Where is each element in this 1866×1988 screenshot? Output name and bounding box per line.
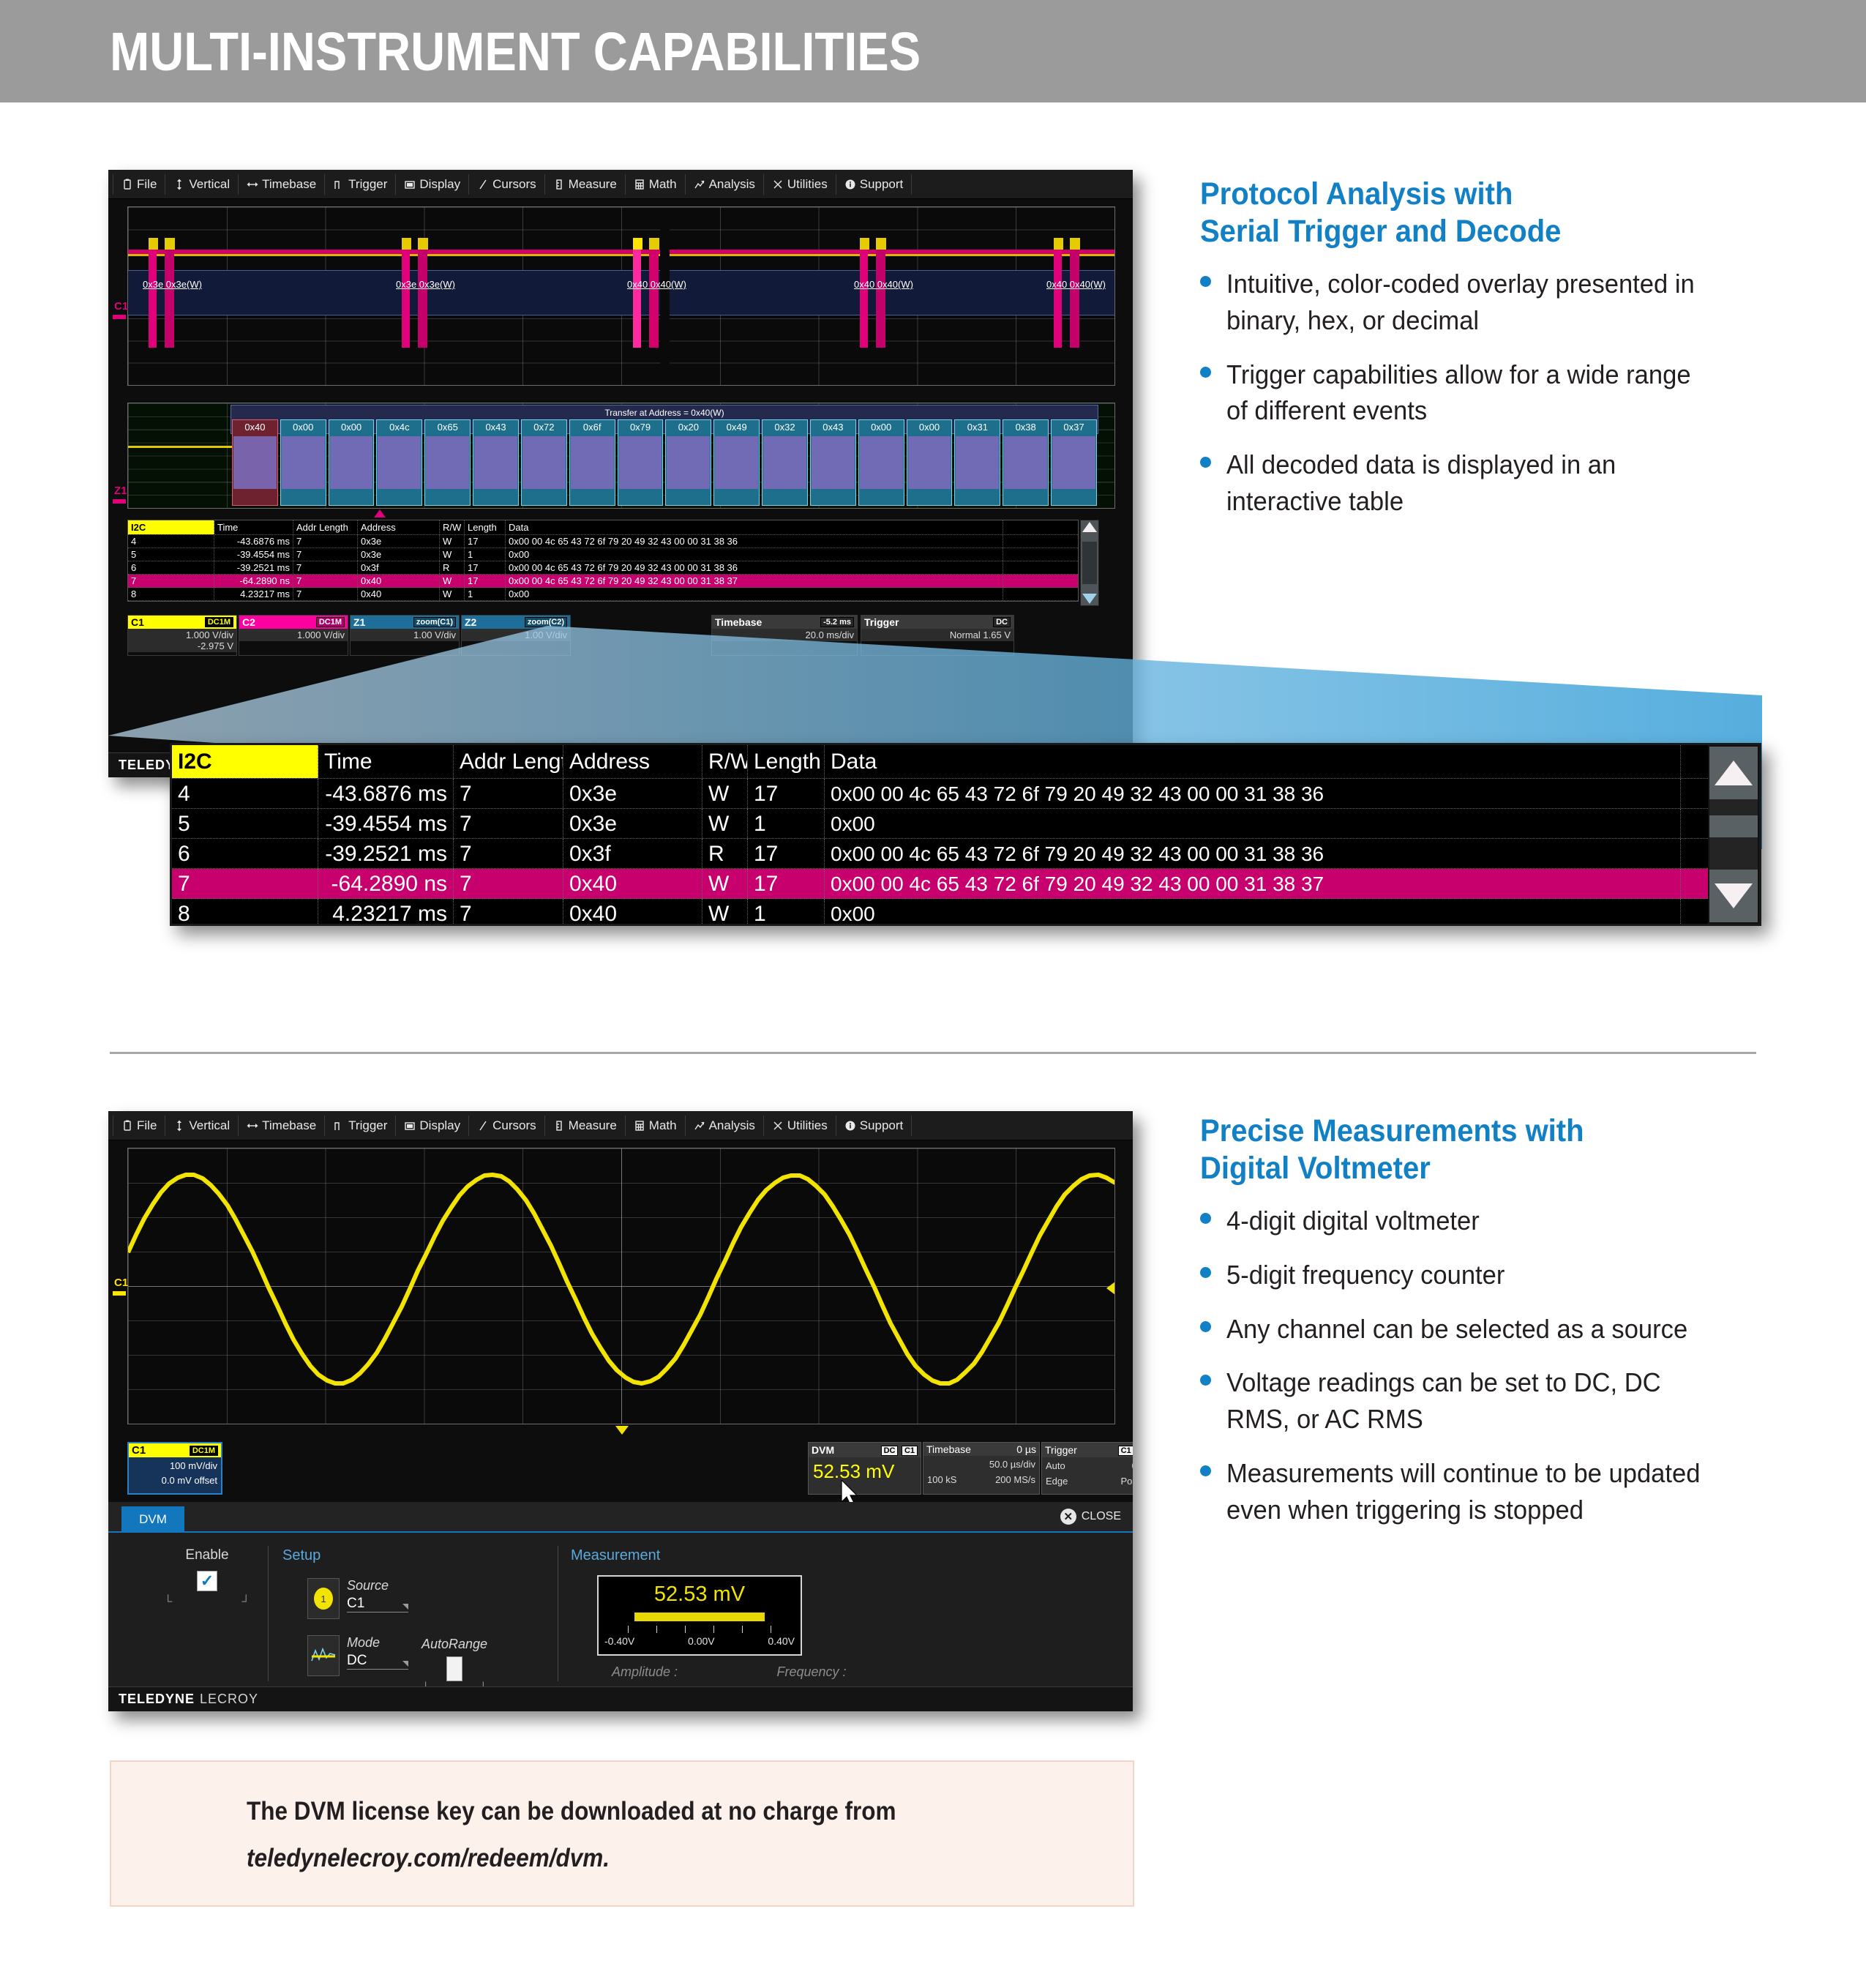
- menu-item-label: Timebase: [262, 1118, 316, 1133]
- menu-item-label: Cursors: [492, 177, 536, 192]
- decode-byte-body: [522, 436, 566, 489]
- trigger-source-badge: C1: [1118, 1446, 1133, 1456]
- menu-item-label: Utilities: [787, 177, 828, 192]
- menu-item-label: Utilities: [787, 1118, 828, 1133]
- menu-item-measure[interactable]: Measure: [545, 174, 626, 195]
- dvm-scale-max: 0.40V: [768, 1635, 795, 1647]
- decode-byte-body: [908, 436, 951, 489]
- descriptor-badge: DC: [993, 617, 1011, 627]
- bullet-text: Trigger capabilities allow for a wide ra…: [1226, 356, 1707, 429]
- section-divider: [110, 1052, 1756, 1054]
- descriptor-trigger[interactable]: TriggerDCNormal 1.65 V: [861, 615, 1014, 656]
- bullet-text: Measurements will continue to be updated…: [1226, 1455, 1721, 1528]
- info-icon: [844, 1120, 856, 1132]
- c1-offset: 0.0 mV offset: [132, 1473, 217, 1488]
- decode-band: [128, 270, 1114, 315]
- scroll-up-button[interactable]: [1709, 747, 1758, 799]
- file-icon: [121, 179, 133, 190]
- menu-item-label: Trigger: [348, 177, 387, 192]
- decode-overlay-label: 0x3e 0x3e(W): [396, 279, 455, 290]
- display-icon: [404, 1120, 416, 1132]
- enlarged-table-cell: -39.4554 ms: [318, 809, 454, 838]
- enlarged-table-header-cell: I2C: [172, 745, 318, 778]
- i2c-burst-group: [660, 214, 670, 386]
- bullet-item: Measurements will continue to be updated…: [1200, 1455, 1742, 1528]
- decode-byte-label: 0x40: [244, 422, 265, 433]
- trigger-name: Trigger: [1045, 1444, 1077, 1456]
- source-value: C1: [347, 1596, 364, 1612]
- menu-item-timebase[interactable]: Timebase: [239, 1116, 325, 1136]
- menu-item-math[interactable]: Math: [626, 1116, 686, 1136]
- enlarged-table-header-cell: R/W: [702, 745, 748, 778]
- amplitude-label: Amplitude :: [597, 1664, 692, 1680]
- logo-lecroy: LECROY: [200, 1692, 258, 1707]
- scroll-down-icon[interactable]: [1082, 594, 1097, 604]
- zoom-decode-byte-row: 0x400x000x000x4c0x650x430x720x6f0x790x20…: [232, 419, 1097, 506]
- menu-item-vertical[interactable]: Vertical: [165, 174, 239, 195]
- enlarged-table-header-cell: Length: [748, 745, 825, 778]
- decode-byte-label: 0x32: [774, 422, 795, 433]
- descriptor-line1: 20.0 ms/div: [715, 629, 854, 640]
- descriptor-timebase[interactable]: Timebase-5.2 ms20.0 ms/div: [711, 615, 858, 656]
- menu-item-file[interactable]: File: [113, 174, 165, 195]
- mode-control[interactable]: Mode DC: [307, 1635, 408, 1676]
- bullet-dot-icon: [1200, 367, 1211, 378]
- scope-window-protocol: FileVerticalTimebaseTriggerDisplayCursor…: [108, 170, 1133, 777]
- c1-spike: [1054, 238, 1063, 250]
- decode-byte-cell[interactable]: 0x00: [280, 419, 326, 506]
- decode-results-table[interactable]: I2CTimeAddr LengthAddressR/WLengthData4-…: [127, 520, 1079, 602]
- descriptor-c2[interactable]: C2DC1M1.000 V/div: [239, 615, 348, 656]
- table-cell: 4: [128, 535, 214, 548]
- bullet-text: All decoded data is displayed in an inte…: [1226, 446, 1707, 519]
- c1-spike: [149, 238, 158, 250]
- menu-item-cursors[interactable]: Cursors: [469, 174, 545, 195]
- math-icon: [634, 1120, 645, 1132]
- menu-item-cursors[interactable]: Cursors: [469, 1116, 545, 1136]
- enlarged-table-cell: -64.2890 ns: [318, 869, 454, 898]
- trigger-slope-icon: [333, 1120, 345, 1132]
- decode-byte-cell[interactable]: 0x72: [521, 419, 567, 506]
- decode-byte-cell[interactable]: 0x31: [954, 419, 1000, 506]
- c1-spike: [165, 238, 175, 250]
- descriptor-z1[interactable]: Z1zoom(C1)1.00 V/div: [350, 615, 460, 656]
- bullet-text: Voltage readings can be set to DC, DC RM…: [1226, 1364, 1721, 1437]
- menu-item-support[interactable]: Support: [836, 1116, 913, 1136]
- decode-byte-cell[interactable]: 0x00: [907, 419, 953, 506]
- scope-descriptor-bar[interactable]: C1DC1M1.000 V/div-2.975 VC2DC1M1.000 V/d…: [127, 615, 1115, 656]
- dvm-text-column: Precise Measurements with Digital Voltme…: [1200, 1113, 1742, 1545]
- c1-baseline-trace: [128, 254, 1114, 256]
- decode-byte-cell[interactable]: 0x49: [713, 419, 760, 506]
- scroll-track[interactable]: [1709, 837, 1758, 870]
- table-cell: 17: [465, 535, 506, 548]
- bullet-dot-icon: [1200, 1375, 1211, 1386]
- bullet-item: All decoded data is displayed in an inte…: [1200, 446, 1727, 519]
- scroll-up-icon[interactable]: [1082, 522, 1097, 532]
- enlarged-table-row[interactable]: 6-39.2521 ms70x3fR170x00 00 4c 65 43 72 …: [172, 839, 1708, 869]
- page-header-band: MULTI-INSTRUMENT CAPABILITIES: [0, 0, 1866, 102]
- descriptor-name: C2: [242, 616, 255, 628]
- table-row[interactable]: 5-39.4554 ms70x3eW10x00: [128, 548, 1078, 561]
- menu-item-trigger[interactable]: Trigger: [325, 174, 396, 195]
- decode-byte-label: 0x20: [678, 422, 699, 433]
- chevron-down-icon[interactable]: [402, 1604, 408, 1610]
- scroll-thumb[interactable]: [1082, 542, 1097, 584]
- enlarged-table-cell: 7: [172, 869, 318, 898]
- menu-item-analysis[interactable]: Analysis: [686, 1116, 764, 1136]
- c1-spike: [876, 238, 886, 250]
- trigger-position-marker: [374, 509, 386, 517]
- analysis-icon: [694, 179, 705, 190]
- decode-byte-cell[interactable]: 0x40: [232, 419, 278, 506]
- descriptor-line1: Normal 1.65 V: [864, 629, 1011, 640]
- table-cell: -64.2890 ns: [214, 575, 293, 587]
- decode-byte-body: [571, 436, 614, 489]
- measure-icon: [553, 1120, 565, 1132]
- c1-spike: [418, 238, 428, 250]
- table-cell: 0x3f: [358, 561, 440, 574]
- decode-byte-label: 0x37: [1063, 422, 1084, 433]
- decode-byte-cell[interactable]: 0x00: [329, 419, 375, 506]
- enlarged-table-cell: 7: [454, 809, 563, 838]
- descriptor-line1: 1.000 V/div: [242, 629, 345, 640]
- table-cell: 0x3e: [358, 535, 440, 548]
- logo-teledyne: TELEDYNE: [119, 1692, 195, 1707]
- frequency-readout: Frequency :: [764, 1664, 859, 1680]
- enlarged-table-header-cell: Time: [318, 745, 454, 778]
- table-cell: 7: [293, 575, 358, 587]
- bullet-dot-icon: [1200, 457, 1211, 468]
- enlarged-table-cell: 17: [748, 869, 825, 898]
- channel-marker-c1: C1: [114, 300, 128, 313]
- menu-item-label: File: [137, 1118, 157, 1133]
- waveform-grid-main: 0x3e 0x3e(W) 0x3e 0x3e(W) 0x40 0x40(W) 0…: [127, 206, 1115, 386]
- decode-byte-body: [1004, 436, 1047, 489]
- decode-byte-body: [956, 436, 999, 489]
- dvm-scale-min: -0.40V: [604, 1635, 634, 1647]
- table-row[interactable]: 4-43.6876 ms70x3eW170x00 00 4c 65 43 72 …: [128, 535, 1078, 548]
- descriptor-badge: zoom(C2): [525, 617, 567, 627]
- menu-item-display[interactable]: Display: [396, 1116, 469, 1136]
- trigger-mode: Auto: [1046, 1459, 1065, 1474]
- decode-byte-label: 0x79: [630, 422, 651, 433]
- decode-byte-body: [282, 436, 325, 489]
- enlarged-table-cell: 17: [748, 839, 825, 868]
- table-cell: 0x40: [358, 575, 440, 587]
- enlarged-table-row[interactable]: 7-64.2890 ns70x40W170x00 00 4c 65 43 72 …: [172, 869, 1708, 899]
- enlarged-table-cell: 5: [172, 809, 318, 838]
- enable-checkbox[interactable]: ✓: [197, 1571, 217, 1591]
- dvm-bargraph-ticks: [628, 1626, 771, 1633]
- dvm-descriptor[interactable]: DVM DC C1 52.53 mV: [808, 1442, 921, 1495]
- menu-item-vertical[interactable]: Vertical: [165, 1116, 239, 1136]
- enlarged-table-row[interactable]: 4-43.6876 ms70x3eW170x00 00 4c 65 43 72 …: [172, 779, 1708, 809]
- decode-byte-cell[interactable]: 0x20: [665, 419, 711, 506]
- scroll-thumb[interactable]: [1709, 815, 1758, 837]
- mode-label: Mode: [347, 1635, 408, 1651]
- table-cell: 7: [128, 575, 214, 587]
- i2c-burst-group: [860, 245, 868, 348]
- horizontal-arrows-icon: [247, 1120, 258, 1132]
- enlarged-table-cell: 0x00 00 4c 65 43 72 6f 79 20 49 32 43 00…: [825, 869, 1681, 898]
- channel-marker-c1-sine: C1: [114, 1277, 128, 1289]
- table-cell: 0x3e: [358, 548, 440, 561]
- menu-item-label: Math: [649, 1118, 677, 1133]
- scroll-down-icon: [1715, 883, 1753, 908]
- table-cell: 0x00 00 4c 65 43 72 6f 79 20 49 32 43 00…: [506, 535, 1003, 548]
- utilities-icon: [772, 179, 784, 190]
- menu-item-label: Measure: [569, 1118, 617, 1133]
- table-cell: 4.23217 ms: [214, 588, 293, 600]
- measure-icon: [553, 179, 565, 190]
- menu-item-support[interactable]: Support: [836, 174, 913, 195]
- table-cell: 17: [465, 561, 506, 574]
- decode-overlay-label: 0x3e 0x3e(W): [143, 279, 202, 290]
- zoom-decode-title: Transfer at Address = 0x40(W): [231, 408, 1098, 418]
- bullet-item: Any channel can be selected as a source: [1200, 1311, 1742, 1348]
- timebase-name: Timebase: [926, 1443, 971, 1455]
- license-note-box: The DVM license key can be downloaded at…: [110, 1760, 1134, 1907]
- decode-byte-cell[interactable]: 0x43: [810, 419, 856, 506]
- table-header-row: I2CTimeAddr LengthAddressR/WLengthData: [128, 520, 1078, 535]
- decode-overlay-label: 0x40 0x40(W): [1046, 279, 1106, 290]
- decode-byte-label: 0x31: [967, 422, 988, 433]
- enlarged-table-cell: 4: [172, 779, 318, 808]
- table-cell: 0x00 00 4c 65 43 72 6f 79 20 49 32 43 00…: [506, 575, 1003, 587]
- bullet-dot-icon: [1200, 1213, 1211, 1224]
- tab-dvm[interactable]: DVM: [121, 1506, 184, 1533]
- table-cell: W: [440, 548, 465, 561]
- protocol-heading-line2: Serial Trigger and Decode: [1200, 213, 1690, 250]
- vertical-rule-1: [268, 1546, 269, 1681]
- decode-byte-cell[interactable]: 0x6f: [569, 419, 615, 506]
- enlarged-table-cell: 0x40: [563, 899, 702, 926]
- decode-byte-label: 0x00: [293, 422, 313, 433]
- close-icon: ✕: [1060, 1509, 1076, 1525]
- decode-results-table-enlarged[interactable]: I2CTimeAddr LengthAddressR/WLengthData4-…: [170, 743, 1761, 926]
- bullet-text: Any channel can be selected as a source: [1226, 1311, 1687, 1348]
- scroll-down-button[interactable]: [1709, 870, 1758, 922]
- waveform-grid-zoom: Transfer at Address = 0x40(W) 0x400x000x…: [127, 403, 1115, 509]
- bullet-text: Intuitive, color-coded overlay presented…: [1226, 266, 1707, 338]
- menu-item-label: Display: [419, 177, 460, 192]
- scope-menubar[interactable]: FileVerticalTimebaseTriggerDisplayCursor…: [108, 170, 1133, 199]
- c1-spike: [1070, 238, 1080, 250]
- scope-window-dvm: FileVerticalTimebaseTriggerDisplayCursor…: [108, 1111, 1133, 1711]
- c1-descriptor[interactable]: C1 DC1M 100 mV/div 0.0 mV offset: [127, 1442, 222, 1495]
- table-header-cell: I2C: [128, 520, 214, 534]
- enlarged-table-row[interactable]: 84.23217 ms70x40W10x00: [172, 899, 1708, 926]
- enlarged-table-cell: 0x3e: [563, 779, 702, 808]
- enlarged-table-header-row: I2CTimeAddr LengthAddressR/WLengthData: [172, 745, 1708, 779]
- zoom-c1-trace: [128, 446, 235, 448]
- decode-byte-body: [426, 436, 469, 489]
- trigger-position-marker-sine: [615, 1426, 629, 1435]
- decode-byte-body: [1052, 436, 1095, 489]
- enlarged-table-cell: 0x3f: [563, 839, 702, 868]
- horizontal-arrows-icon: [247, 179, 258, 190]
- decode-byte-body: [330, 436, 373, 489]
- display-icon: [404, 179, 416, 190]
- table-row[interactable]: 6-39.2521 ms70x3fR170x00 00 4c 65 43 72 …: [128, 561, 1078, 575]
- scope-menubar-dvm[interactable]: FileVerticalTimebaseTriggerDisplayCursor…: [108, 1111, 1133, 1140]
- menu-item-label: Support: [860, 177, 904, 192]
- bullet-item: Voltage readings can be set to DC, DC RM…: [1200, 1364, 1742, 1437]
- table-cell: 0x00: [506, 588, 1003, 600]
- trigger-slope: Positive: [1120, 1474, 1133, 1490]
- table-row[interactable]: 84.23217 ms70x40W10x00: [128, 588, 1078, 601]
- enlarged-table-cell: W: [702, 779, 748, 808]
- mode-value: DC: [347, 1653, 367, 1669]
- dvm-bargraph: [634, 1613, 765, 1621]
- table-cell: 6: [128, 561, 214, 574]
- source-control[interactable]: 1 Source C1: [307, 1578, 408, 1619]
- menu-item-label: Support: [860, 1118, 904, 1133]
- vertical-arrows-icon: [173, 1120, 185, 1132]
- menu-item-label: Trigger: [348, 1118, 387, 1133]
- protocol-text-column: Protocol Analysis with Serial Trigger an…: [1200, 176, 1727, 537]
- channel-marker-z1: Z1: [114, 485, 127, 497]
- decode-byte-cell[interactable]: 0x32: [762, 419, 808, 506]
- menu-item-label: Vertical: [189, 1118, 230, 1133]
- enlarged-table-cell: 8: [172, 899, 318, 926]
- decode-byte-label: 0x00: [919, 422, 940, 433]
- enlarged-table-body[interactable]: I2CTimeAddr LengthAddressR/WLengthData4-…: [172, 745, 1708, 924]
- autorange-checkbox[interactable]: [446, 1656, 462, 1681]
- enlarged-table-header-cell: Address: [563, 745, 702, 778]
- table-cell: 0x40: [358, 588, 440, 600]
- file-icon: [121, 1120, 133, 1132]
- decode-byte-label: 0x49: [727, 422, 747, 433]
- dvm-dialog-close[interactable]: ✕ CLOSE: [1060, 1509, 1121, 1525]
- i2c-burst-group: [876, 245, 885, 348]
- table-cell: -39.2521 ms: [214, 561, 293, 574]
- descriptor-c1[interactable]: C1DC1M1.000 V/div-2.975 V: [127, 615, 237, 656]
- table-cell: 0x00: [506, 548, 1003, 561]
- decode-byte-label: 0x6f: [583, 422, 602, 433]
- menu-item-trigger[interactable]: Trigger: [325, 1116, 396, 1136]
- table-cell: W: [440, 575, 465, 587]
- menu-item-label: Math: [649, 177, 677, 192]
- decode-overlay-label: 0x40 0x40(W): [627, 279, 686, 290]
- utilities-icon: [772, 1120, 784, 1132]
- license-note-line2: teledynelecroy.com/redeem/dvm.: [247, 1844, 610, 1873]
- protocol-heading-line1: Protocol Analysis with: [1200, 176, 1690, 213]
- enlarged-table-row[interactable]: 5-39.4554 ms70x3eW10x00: [172, 809, 1708, 839]
- c1-volts-div: 100 mV/div: [132, 1459, 217, 1473]
- channel-offset-tick-c1: [113, 315, 126, 319]
- enable-label: Enable: [152, 1547, 262, 1563]
- menu-item-display[interactable]: Display: [396, 174, 469, 195]
- brand-logo-bar-dvm: TELEDYNE LECROY: [108, 1686, 1133, 1711]
- channel-offset-tick-c1-sine: [113, 1291, 126, 1296]
- menu-item-utilities[interactable]: Utilities: [764, 174, 836, 195]
- enlarged-table-cell: 0x00 00 4c 65 43 72 6f 79 20 49 32 43 00…: [825, 779, 1681, 808]
- dvm-dialog[interactable]: DVM ✕ CLOSE Enable ✓ └ ┘ Setup 1 Source: [108, 1502, 1133, 1686]
- decode-byte-cell[interactable]: 0x4c: [376, 419, 422, 506]
- amplitude-readout: Amplitude :: [597, 1664, 692, 1680]
- enlarged-table-cell: 0x3e: [563, 809, 702, 838]
- table-header-cell: Length: [465, 520, 506, 534]
- menu-item-math[interactable]: Math: [626, 174, 686, 195]
- decode-table-scrollbar[interactable]: [1080, 520, 1099, 606]
- decode-byte-cell[interactable]: 0x43: [473, 419, 519, 506]
- timebase-scale: 50.0 µs/div: [927, 1457, 1035, 1473]
- enlarged-table-cell: W: [702, 899, 748, 926]
- enlarged-table-cell: 7: [454, 839, 563, 868]
- descriptor-name: Trigger: [864, 616, 899, 628]
- enlarged-table-scrollbar[interactable]: [1708, 745, 1759, 924]
- table-cell: 7: [293, 561, 358, 574]
- sine-waveform: [128, 1148, 1115, 1424]
- descriptor-z2[interactable]: Z2zoom(C2)1.00 V/div: [461, 615, 571, 656]
- menu-item-file[interactable]: File: [113, 1116, 165, 1136]
- decode-byte-cell[interactable]: 0x79: [618, 419, 664, 506]
- menu-item-utilities[interactable]: Utilities: [764, 1116, 836, 1136]
- decode-byte-cell[interactable]: 0x37: [1051, 419, 1097, 506]
- enlarged-table-cell: 0x00: [825, 809, 1681, 838]
- dvm-reading: 52.53 mV: [809, 1457, 921, 1486]
- bullet-dot-icon: [1200, 1465, 1211, 1476]
- menu-item-label: Measure: [569, 177, 617, 192]
- trigger-level: 0 mV: [1132, 1459, 1133, 1474]
- source-channel-icon: 1: [307, 1578, 340, 1619]
- source-label: Source: [347, 1578, 408, 1593]
- menu-item-measure[interactable]: Measure: [545, 1116, 626, 1136]
- menu-item-label: File: [137, 177, 157, 192]
- timebase-descriptor[interactable]: Timebase 0 µs 50.0 µs/div 100 kS 200 MS/…: [923, 1442, 1040, 1495]
- menu-item-label: Timebase: [262, 177, 316, 192]
- table-row[interactable]: 7-64.2890 ns70x40W170x00 00 4c 65 43 72 …: [128, 575, 1078, 588]
- table-header-cell: R/W: [440, 520, 465, 534]
- i2c-burst-group: [165, 245, 174, 348]
- menu-item-label: Display: [419, 1118, 460, 1133]
- enlarged-table-cell: W: [702, 869, 748, 898]
- autorange-label: AutoRange: [421, 1637, 487, 1652]
- trigger-descriptor[interactable]: Trigger C1 DC Auto 0 mV Edge Positive: [1041, 1442, 1133, 1495]
- mode-waveform-icon: [307, 1635, 340, 1676]
- license-note-line1: The DVM license key can be downloaded at…: [247, 1797, 896, 1826]
- table-header-cell: Time: [214, 520, 293, 534]
- decode-byte-body: [763, 436, 806, 489]
- descriptor-name: C1: [131, 616, 144, 628]
- table-cell: 5: [128, 548, 214, 561]
- decode-byte-body: [860, 436, 903, 489]
- trigger-type: Edge: [1046, 1474, 1068, 1490]
- bullet-text: 5-digit frequency counter: [1226, 1257, 1505, 1293]
- c1-coupling-badge: DC1M: [190, 1446, 218, 1456]
- frequency-label: Frequency :: [764, 1664, 859, 1680]
- chevron-down-icon[interactable]: [402, 1661, 408, 1667]
- c1-spike: [649, 238, 659, 250]
- decode-byte-cell[interactable]: 0x00: [858, 419, 904, 506]
- i2c-burst-group: [418, 245, 427, 348]
- dvm-measurement-box: 52.53 mV -0.40V 0.00V 0.40V: [597, 1575, 802, 1656]
- decode-byte-cell[interactable]: 0x38: [1003, 419, 1049, 506]
- group-bracket-right: ┘: [242, 1596, 250, 1609]
- decode-byte-cell[interactable]: 0x65: [424, 419, 471, 506]
- i2c-burst-group: [149, 245, 157, 348]
- measurement-section-label: Measurement: [571, 1547, 660, 1564]
- menu-item-analysis[interactable]: Analysis: [686, 174, 764, 195]
- math-icon: [634, 179, 645, 190]
- decode-overlay-label: 0x40 0x40(W): [854, 279, 913, 290]
- cursor-icon: [477, 1120, 489, 1132]
- descriptor-line2: -2.975 V: [131, 640, 233, 651]
- menu-item-timebase[interactable]: Timebase: [239, 174, 325, 195]
- descriptor-name: Z2: [465, 616, 476, 628]
